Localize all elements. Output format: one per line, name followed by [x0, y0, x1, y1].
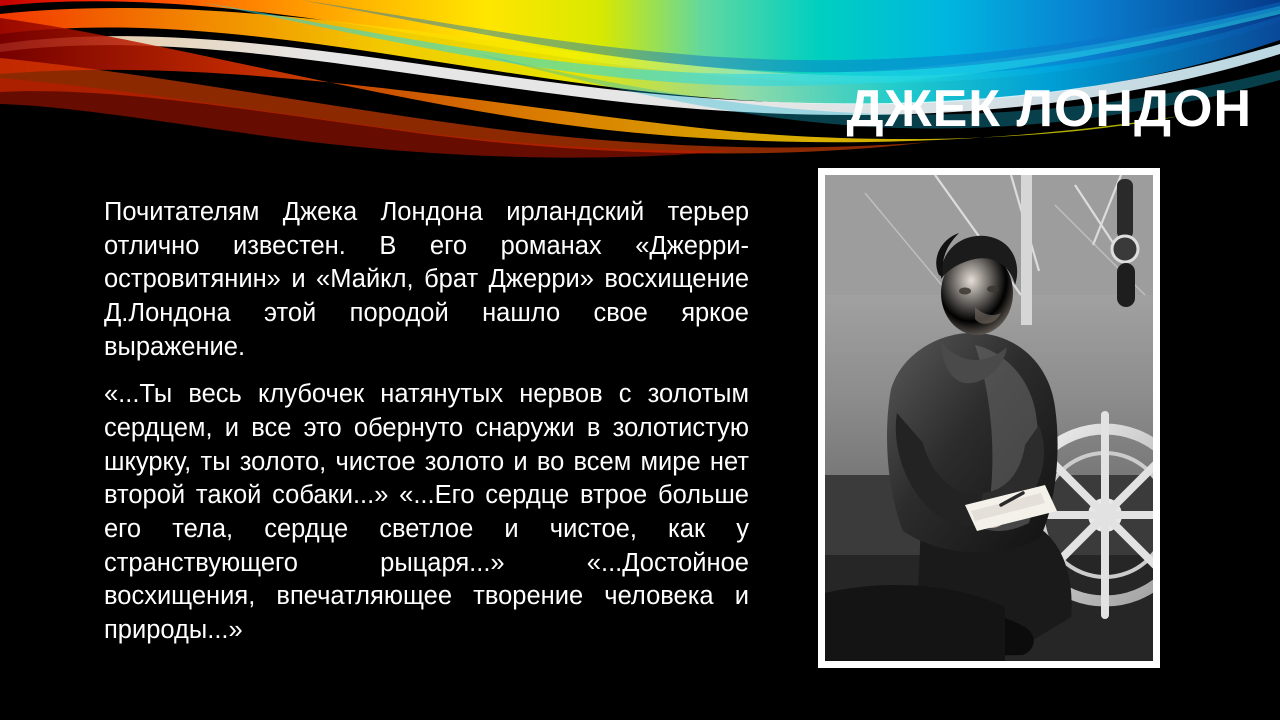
page-title: ДЖЕК ЛОНДОН: [847, 82, 1252, 137]
paragraph-1: Почитателям Джека Лондона ирландский тер…: [104, 196, 749, 364]
photo-illustration: [825, 175, 1153, 661]
body-text-column: Почитателям Джека Лондона ирландский тер…: [104, 196, 749, 648]
paragraph-2: «...Ты весь клубочек натянутых нервов с …: [104, 378, 749, 647]
jack-london-photo-frame: [818, 168, 1160, 668]
presentation-slide: ДЖЕК ЛОНДОН Почитателям Джека Лондона ир…: [0, 0, 1280, 720]
jack-london-photo: [825, 175, 1153, 661]
